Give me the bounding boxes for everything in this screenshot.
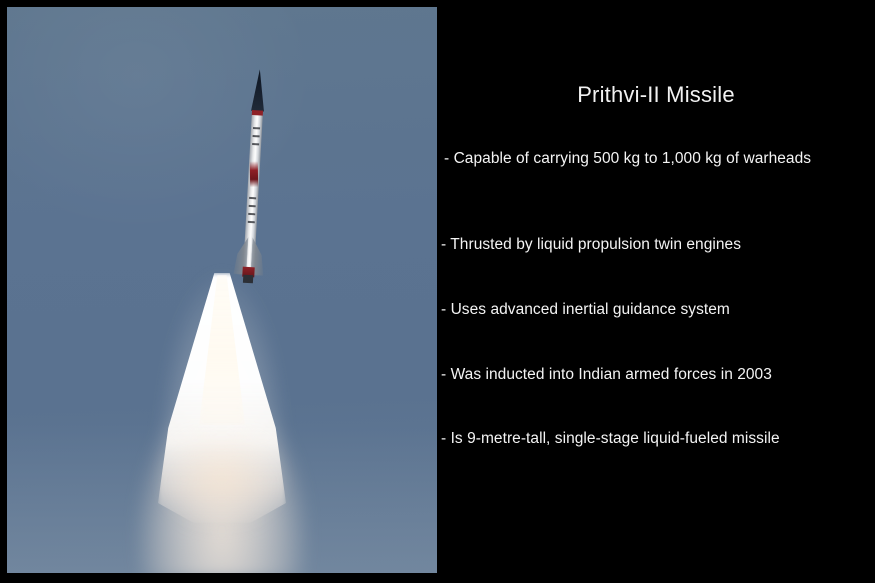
bullet-item: - Uses advanced inertial guidance system	[441, 298, 859, 321]
bullet-item: - Thrusted by liquid propulsion twin eng…	[441, 233, 859, 256]
slide-title: Prithvi-II Missile	[437, 82, 875, 108]
fuselage-marking	[248, 221, 255, 223]
fuselage-marking	[253, 127, 260, 129]
fuselage-marking	[248, 213, 255, 215]
missile-launch-photo	[7, 7, 437, 573]
engine-nozzle	[243, 275, 253, 284]
red-stripe-marking	[250, 161, 258, 187]
exhaust-warm-glow	[147, 437, 297, 557]
bullet-item: - Capable of carrying 500 kg to 1,000 kg…	[444, 147, 852, 170]
fuselage-marking	[252, 143, 259, 145]
text-panel: Prithvi-II Missile - Capable of carrying…	[437, 0, 875, 583]
bullet-item: - Was inducted into Indian armed forces …	[441, 363, 859, 386]
bullet-item: - Is 9-metre-tall, single-stage liquid-f…	[441, 427, 869, 450]
fuselage-marking	[249, 197, 256, 199]
nose-cone-icon	[251, 69, 266, 112]
fuselage-marking	[249, 205, 256, 207]
fuselage-marking	[253, 135, 260, 137]
presentation-slide: Prithvi-II Missile - Capable of carrying…	[0, 0, 875, 583]
